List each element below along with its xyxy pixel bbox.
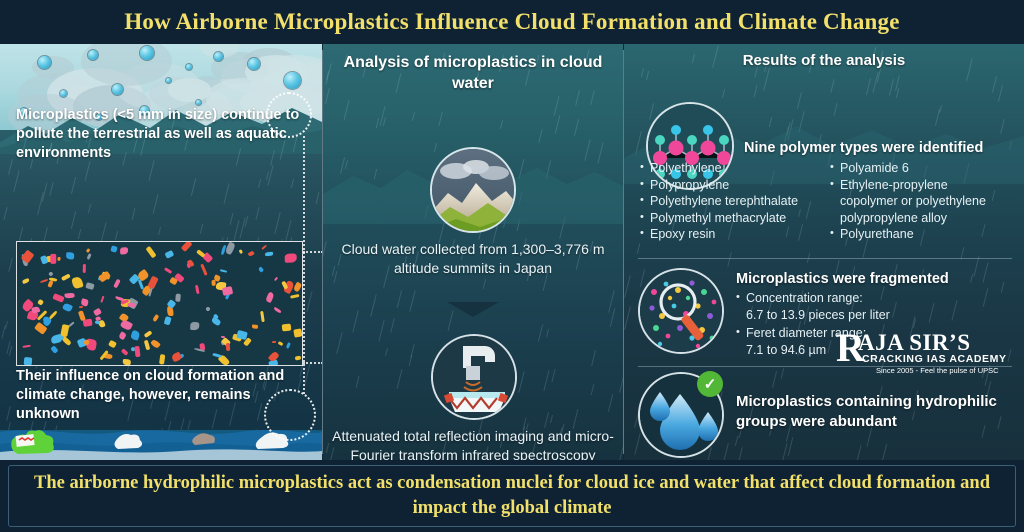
rain-streak-icon	[882, 445, 887, 460]
list-item: 6.7 to 13.9 pieces per liter	[736, 307, 986, 324]
rain-streak-icon	[337, 332, 343, 353]
microplastic-fragment	[120, 348, 128, 356]
rain-streak-icon	[998, 85, 1003, 101]
rain-streak-icon	[355, 376, 359, 388]
water-droplet-icon	[112, 84, 123, 95]
rain-streak-icon	[230, 214, 234, 226]
microplastic-fragment	[57, 257, 61, 261]
rain-streak-icon	[375, 118, 378, 128]
microplastic-fragment	[61, 274, 71, 281]
content-stage: Microplastics (<5 mm in size) continue t…	[0, 44, 1024, 460]
microplastic-fragment	[62, 303, 74, 313]
microplastic-fragment	[277, 341, 283, 346]
list-item: Epoxy resin	[640, 226, 840, 243]
microplastic-fragment	[47, 280, 53, 288]
microplastic-fragment	[222, 286, 233, 296]
rain-streak-icon	[275, 213, 281, 235]
rain-streak-icon	[608, 394, 613, 412]
microplastic-fragment	[32, 306, 41, 314]
microplastic-fragment	[64, 293, 74, 299]
rain-streak-icon	[258, 179, 261, 188]
microplastic-fragment	[294, 356, 301, 361]
rain-streak-icon	[736, 447, 743, 460]
water-droplet-icon	[140, 46, 154, 60]
rain-streak-icon	[344, 100, 350, 120]
polymer-list-right: Polyamide 6Ethylene-propylenecopolymer o…	[830, 160, 1020, 243]
microplastic-fragment	[225, 241, 236, 255]
microplastic-fragment	[85, 282, 94, 290]
rain-streak-icon	[71, 177, 76, 194]
microplastic-fragment	[144, 330, 153, 338]
list-item: polypropylene alloy	[830, 210, 1020, 227]
rain-streak-icon	[780, 368, 784, 379]
conclusion-banner-frame: The airborne hydrophilic microplastics a…	[8, 465, 1016, 527]
microplastic-fragment	[285, 342, 290, 349]
rain-streak-icon	[722, 89, 725, 98]
microplastic-fragment	[272, 341, 276, 343]
middle-panel: Analysis of microplastics in cloud water	[323, 44, 623, 460]
rain-streak-icon	[85, 161, 91, 181]
list-item: Polypropylene	[640, 177, 840, 194]
microplastic-fragment	[48, 271, 53, 276]
rain-streak-icon	[787, 437, 793, 456]
title-bar: How Airborne Microplastics Influence Clo…	[0, 0, 1024, 44]
microplastic-fragment	[226, 343, 231, 351]
microplastic-fragment	[52, 293, 65, 303]
left-statement-1: Microplastics (<5 mm in size) continue t…	[16, 106, 306, 163]
rain-streak-icon	[115, 231, 118, 240]
rain-streak-icon	[385, 348, 388, 356]
list-item: Polyethylene	[640, 160, 840, 177]
rain-streak-icon	[855, 445, 861, 460]
rain-streak-icon	[5, 321, 8, 329]
rain-streak-icon	[439, 112, 443, 126]
left-panel: Microplastics (<5 mm in size) continue t…	[0, 44, 322, 460]
highlight-circle-icon	[266, 92, 312, 138]
list-item: Polyamide 6	[830, 160, 1020, 177]
microplastic-fragment	[86, 253, 91, 260]
microplastic-fragment	[205, 306, 211, 312]
rain-streak-icon	[433, 143, 436, 152]
water-droplet-icon	[186, 64, 192, 70]
microplastic-fragment	[213, 353, 222, 358]
rain-streak-icon	[256, 207, 260, 220]
water-droplet-icon	[284, 72, 301, 89]
rain-streak-icon	[200, 224, 203, 234]
result-1-heading: Nine polymer types were identified	[744, 139, 1014, 158]
rain-streak-icon	[866, 78, 871, 95]
water-droplet-icon	[196, 100, 201, 105]
dashed-connector-top	[303, 251, 322, 253]
rain-streak-icon	[291, 179, 294, 188]
rain-streak-icon	[315, 192, 319, 204]
rain-streak-icon	[896, 88, 899, 98]
rain-streak-icon	[88, 204, 91, 213]
academy-logo: R AJA SIR’S CRACKING IAS ACADEMY Since 2…	[836, 330, 1016, 384]
list-item: Polymethyl methacrylate	[640, 210, 840, 227]
microplastic-fragment	[164, 316, 172, 325]
microplastic-fragment	[98, 271, 111, 283]
rain-streak-icon	[554, 96, 560, 116]
microplastic-fragment	[294, 329, 303, 338]
conclusion-banner: The airborne hydrophilic microplastics a…	[0, 460, 1024, 532]
rain-streak-icon	[889, 79, 894, 95]
microplastic-fragment	[83, 265, 86, 274]
rain-streak-icon	[409, 290, 415, 312]
microplastic-fragment	[190, 322, 200, 330]
infrared-spectroscopy-icon	[431, 334, 517, 420]
microplastic-fragment	[175, 293, 181, 301]
rain-streak-icon	[797, 92, 802, 108]
rain-streak-icon	[483, 279, 486, 289]
microplastic-fragment	[21, 278, 29, 284]
microplastic-fragment	[130, 330, 140, 341]
rain-streak-icon	[591, 350, 596, 366]
rain-streak-icon	[379, 320, 385, 341]
water-droplet-icon	[38, 56, 51, 69]
microplastic-fragment	[60, 324, 69, 337]
list-item: Polyethylene terephthalate	[640, 193, 840, 210]
rain-streak-icon	[153, 194, 159, 214]
left-statement-2: Their influence on cloud formation and c…	[16, 367, 306, 424]
microplastic-fragment	[50, 334, 63, 344]
rain-streak-icon	[538, 324, 543, 342]
rain-streak-icon	[148, 161, 154, 182]
rain-streak-icon	[131, 208, 135, 220]
microplastic-fragment	[265, 252, 273, 256]
rain-streak-icon	[539, 129, 543, 142]
rain-streak-icon	[624, 306, 631, 329]
rain-streak-icon	[4, 207, 8, 220]
rain-streak-icon	[500, 120, 503, 129]
microplastic-fragment	[281, 324, 291, 332]
chevron-down-icon	[447, 302, 499, 317]
rain-streak-icon	[518, 371, 524, 393]
microplastic-fragment	[273, 307, 282, 314]
middle-caption-2: Attenuated total reflection imaging and …	[323, 427, 623, 460]
microplastic-fragment	[146, 246, 157, 258]
rain-streak-icon	[7, 406, 12, 420]
microplastic-fragment	[37, 299, 44, 306]
rain-streak-icon	[625, 276, 631, 298]
microplastic-fragment	[257, 266, 264, 273]
microplastic-fragment	[120, 319, 133, 331]
rain-streak-icon	[573, 409, 579, 428]
microplastic-fragment	[120, 247, 129, 255]
section-divider-1	[638, 258, 1012, 259]
rain-streak-icon	[546, 329, 549, 337]
microplastic-fragment	[152, 314, 159, 322]
microplastic-fragment	[135, 346, 141, 357]
rain-streak-icon	[390, 318, 395, 333]
water-droplet-icon	[214, 52, 223, 61]
rain-streak-icon	[370, 294, 377, 317]
microplastic-fragment	[260, 311, 265, 322]
microplastic-fragment	[290, 294, 299, 299]
water-droplet-icon	[248, 58, 260, 70]
microplastic-fragment	[285, 254, 297, 263]
dashed-connector	[303, 136, 305, 394]
list-item: copolymer or polyethylene	[830, 193, 1020, 210]
right-heading: Results of the analysis	[624, 52, 1024, 69]
microplastic-fragment	[71, 276, 83, 290]
rain-streak-icon	[727, 252, 732, 267]
microplastic-fragment	[159, 354, 165, 365]
microplastic-fragment	[164, 250, 174, 259]
rain-streak-icon	[551, 369, 555, 382]
microplastic-fragment	[127, 302, 135, 307]
microplastic-fragment	[200, 264, 207, 276]
middle-caption-1: Cloud water collected from 1,300–3,776 m…	[323, 240, 623, 278]
rain-streak-icon	[78, 229, 81, 239]
microplastic-fragment	[24, 357, 33, 366]
microplastic-fragment	[181, 241, 193, 252]
microplastic-fragment	[144, 339, 151, 350]
rain-streak-icon	[646, 71, 649, 80]
check-badge-icon: ✓	[697, 371, 723, 397]
infographic-root: How Airborne Microplastics Influence Clo…	[0, 0, 1024, 532]
rain-streak-icon	[49, 182, 53, 195]
conclusion-text: The airborne hydrophilic microplastics a…	[9, 471, 1015, 521]
rain-streak-icon	[9, 258, 13, 272]
microplastic-fragment	[50, 254, 56, 264]
rain-streak-icon	[13, 170, 19, 191]
microplastic-fragment	[86, 248, 91, 253]
rain-streak-icon	[641, 68, 644, 77]
rain-streak-icon	[224, 183, 230, 204]
list-item: Ethylene-propylene	[830, 177, 1020, 194]
microplastic-fragment	[196, 249, 205, 258]
rain-streak-icon	[397, 369, 403, 389]
rain-streak-icon	[412, 112, 415, 121]
rain-streak-icon	[352, 311, 359, 334]
microplastic-fragment	[118, 331, 126, 340]
rain-streak-icon	[9, 346, 12, 356]
rain-streak-icon	[233, 220, 239, 241]
microplastic-fragment	[238, 249, 242, 254]
microplastic-fragment	[66, 253, 75, 260]
microplastic-fragment	[293, 281, 303, 292]
microplastic-fragment	[122, 359, 131, 366]
rain-streak-icon	[397, 290, 402, 307]
microplastic-fragment	[247, 251, 254, 257]
mountain-cloud-icon	[430, 147, 516, 233]
microplastic-fragment	[100, 296, 104, 303]
microplastic-fragment	[261, 244, 267, 250]
rain-streak-icon	[637, 243, 641, 254]
rain-streak-icon	[191, 178, 196, 196]
microplastic-fragment	[110, 245, 117, 252]
polymer-list-left: PolyethylenePolypropylenePolyethylene te…	[640, 160, 840, 243]
rain-streak-icon	[634, 433, 640, 454]
rain-streak-icon	[831, 79, 835, 93]
microplastic-fragment	[50, 345, 58, 353]
rain-streak-icon	[306, 291, 312, 311]
microplastic-fragment	[79, 305, 83, 307]
logo-subtitle: CRACKING IAS ACADEMY	[862, 353, 1007, 365]
rain-streak-icon	[574, 119, 579, 136]
rain-streak-icon	[268, 166, 274, 187]
microplastic-fragment	[23, 344, 31, 347]
magnifier-particles-icon	[638, 268, 724, 354]
microplastic-fragments-panel	[16, 241, 303, 366]
microplastic-fragment	[265, 291, 275, 303]
logo-tagline: Since 2005 - Feel the pulse of UPSC	[876, 366, 999, 375]
right-panel: Results of the analysis	[624, 44, 1024, 460]
rain-streak-icon	[753, 85, 757, 97]
microplastic-fragment	[163, 267, 171, 274]
water-droplet-icon	[88, 50, 98, 60]
microplastic-fragment	[195, 285, 199, 294]
rain-streak-icon	[554, 115, 560, 134]
rain-streak-icon	[772, 371, 777, 388]
rain-streak-icon	[543, 370, 549, 390]
rain-streak-icon	[8, 159, 13, 175]
result-2-heading: Microplastics were fragmented	[736, 270, 1016, 289]
rain-streak-icon	[71, 211, 76, 229]
water-droplet-icon	[60, 90, 67, 97]
rain-streak-icon	[722, 443, 729, 460]
microplastic-fragment	[274, 277, 278, 281]
water-droplet-icon	[166, 78, 171, 83]
microplastic-fragment	[93, 308, 102, 317]
rain-streak-icon	[590, 384, 594, 395]
middle-heading: Analysis of microplastics in cloud water	[323, 52, 623, 94]
page-title: How Airborne Microplastics Influence Clo…	[124, 9, 899, 35]
rain-streak-icon	[735, 436, 738, 446]
rain-streak-icon	[158, 227, 161, 235]
microplastic-fragment	[137, 279, 143, 289]
rain-streak-icon	[781, 443, 787, 460]
rain-streak-icon	[550, 415, 553, 423]
highlight-circle-ocean-icon	[264, 389, 316, 441]
list-item: Concentration range:	[736, 290, 986, 307]
rain-streak-icon	[992, 77, 997, 94]
microplastic-fragment	[220, 269, 228, 273]
microplastic-fragment	[252, 324, 258, 328]
rain-streak-icon	[640, 269, 645, 286]
rain-streak-icon	[383, 117, 386, 126]
rain-streak-icon	[939, 105, 942, 113]
microplastic-fragment	[108, 340, 117, 349]
microplastic-fragment	[40, 279, 48, 283]
microplastic-fragment	[113, 278, 120, 288]
dashed-connector-bottom	[303, 362, 322, 364]
rain-streak-icon	[610, 308, 616, 327]
list-item: Polyurethane	[830, 226, 1020, 243]
result-3-heading: Microplastics containing hydrophilic gro…	[736, 392, 1016, 432]
microplastic-fragment	[150, 338, 161, 348]
